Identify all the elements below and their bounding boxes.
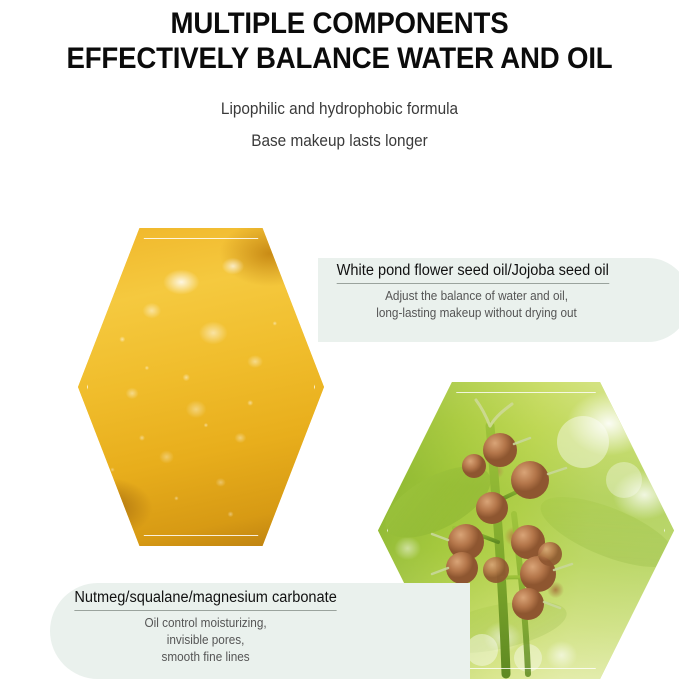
- callout-top-title: White pond flower seed oil/Jojoba seed o…: [337, 261, 609, 284]
- oil-hexagon-image: [78, 228, 324, 546]
- callout-bottom-body-line-1: Oil control moisturizing,: [74, 615, 336, 632]
- callout-bottom: Nutmeg/squalane/magnesium carbonate Oil …: [66, 588, 345, 666]
- callout-top: White pond flower seed oil/Jojoba seed o…: [328, 261, 618, 322]
- callout-top-body-line-2: long-lasting makeup without drying out: [337, 305, 609, 322]
- callout-bottom-title: Nutmeg/squalane/magnesium carbonate: [74, 588, 336, 611]
- subheading-line-1: Lipophilic and hydrophobic formula: [24, 99, 655, 119]
- headline-line-2: EFFECTIVELY BALANCE WATER AND OIL: [27, 42, 652, 75]
- header: MULTIPLE COMPONENTS EFFECTIVELY BALANCE …: [0, 0, 679, 151]
- callout-top-body-line-1: Adjust the balance of water and oil,: [337, 288, 609, 305]
- subheading-line-2: Base makeup lasts longer: [24, 131, 655, 151]
- callout-bottom-body-line-2: invisible pores,: [74, 632, 336, 649]
- callout-bottom-body-line-3: smooth fine lines: [74, 649, 336, 666]
- headline-line-1: MULTIPLE COMPONENTS: [27, 7, 652, 40]
